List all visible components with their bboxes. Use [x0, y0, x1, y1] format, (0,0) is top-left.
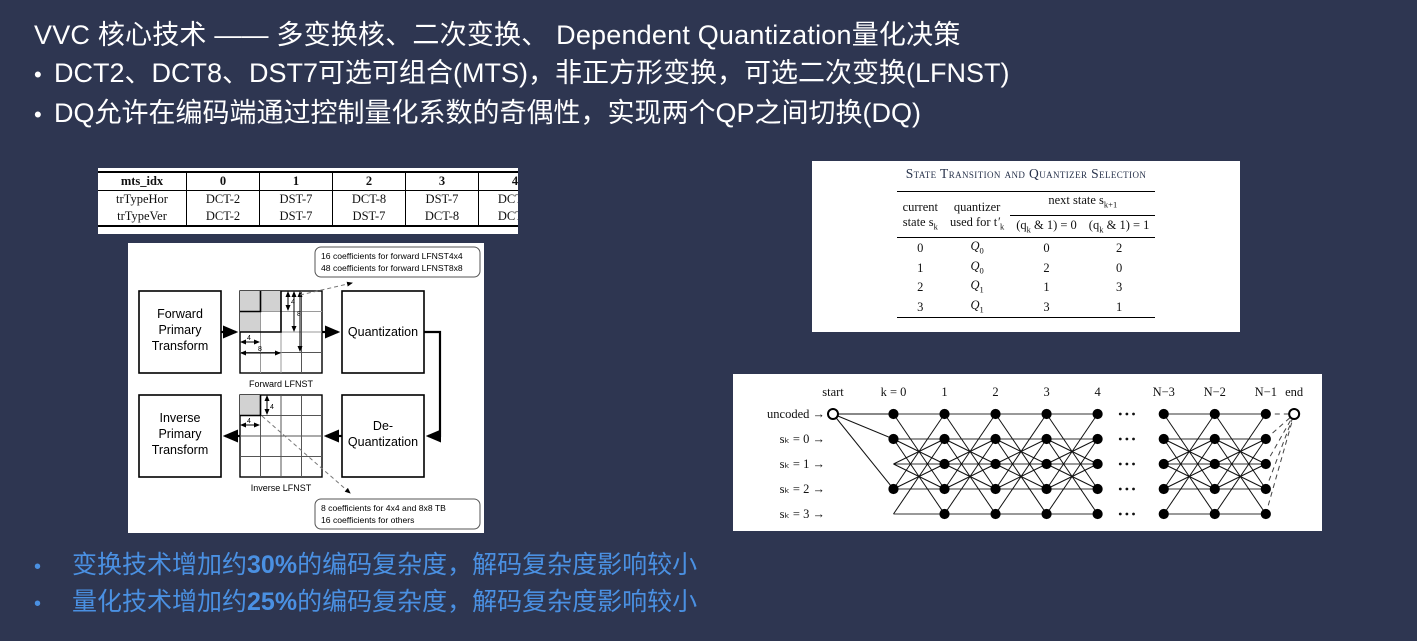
callout-top: 16 coefficients for forward LFNST4x4 48 …	[300, 247, 480, 295]
trellis-node	[1210, 509, 1219, 518]
forward-primary-label-1: Forward	[157, 307, 203, 321]
next-even-cell: 0	[1010, 239, 1083, 259]
state-col-header-line2: state sk	[903, 215, 938, 235]
mts-header-cell: 1	[260, 172, 333, 191]
dim-label-h8: 8	[258, 346, 262, 353]
trellis-node	[1093, 459, 1102, 468]
inverse-primary-label-3: Transform	[152, 443, 209, 457]
trellis-node	[1093, 409, 1102, 418]
trellis-column-label: 2	[992, 385, 998, 399]
mts-cell: DCT-8	[479, 208, 519, 226]
table-rule	[897, 318, 1156, 320]
trellis-column-label: N−3	[1153, 385, 1175, 399]
mts-cell: DST-7	[260, 208, 333, 226]
lfnst-diagram-svg: Forward Primary Transform	[128, 243, 484, 533]
dequantization-label-1: De-	[373, 419, 393, 433]
table-header-row: mts_idx 0 1 2 3 4	[98, 172, 518, 191]
state-transition-table-panel: State Transition and Quantizer Selection…	[812, 161, 1240, 332]
mts-table: mts_idx 0 1 2 3 4 trTypeHor DCT-2 DST-7 …	[98, 171, 518, 227]
quantization-label: Quantization	[348, 325, 418, 339]
trellis-ellipsis-dot	[1132, 463, 1135, 466]
trellis-row-label: sₖ = 0 →	[780, 432, 825, 446]
table-row: trTypeHor DCT-2 DST-7 DCT-8 DST-7 DCT-8	[98, 191, 518, 209]
next-even-cell: 1	[1010, 278, 1083, 298]
trellis-node	[1261, 434, 1270, 443]
bullet-marker: •	[34, 56, 54, 94]
trellis-ellipsis-dot	[1132, 488, 1135, 491]
trellis-node	[1093, 484, 1102, 493]
trellis-column-label: k = 0	[881, 385, 907, 399]
mts-cell: DCT-8	[333, 191, 406, 209]
trellis-ellipsis-dot	[1125, 463, 1128, 466]
next-odd-header: (qk & 1) = 1	[1083, 215, 1156, 238]
trellis-column-label: 1	[941, 385, 947, 399]
trellis-node	[991, 459, 1000, 468]
quantizer-col-header-line1: quantizer	[950, 200, 1004, 215]
mts-cell: DST-7	[333, 208, 406, 226]
trellis-column-label: 4	[1094, 385, 1101, 399]
trellis-node	[991, 484, 1000, 493]
bottom-bullet-block: •变换技术增加约30%的编码复杂度，解码复杂度影响较小•量化技术增加约25%的编…	[34, 548, 1394, 622]
quantizer-col-header: quantizer used for t′k	[944, 193, 1010, 238]
bottom-bullet-text: 变换技术增加约30%的编码复杂度，解码复杂度影响较小	[72, 548, 697, 583]
dim-label-i4b: 4	[270, 404, 274, 411]
table-row: 3 Q1 3 1	[897, 298, 1156, 318]
trellis-diagram-panel: uncoded →sₖ = 0 →sₖ = 1 →sₖ = 2 →sₖ = 3 …	[733, 374, 1322, 531]
mts-cell: DST-7	[406, 191, 479, 209]
state-col-header-line1: current	[903, 200, 938, 215]
next-odd-cell: 3	[1083, 278, 1156, 298]
trellis-node	[1210, 484, 1219, 493]
next-even-cell: 3	[1010, 298, 1083, 318]
mts-cell: DCT-2	[187, 208, 260, 226]
mts-row-label: trTypeVer	[98, 208, 187, 226]
trellis-terminal-node	[828, 409, 838, 419]
quantizer-col-header-line2: used for t′k	[950, 215, 1004, 235]
trellis-node	[1261, 459, 1270, 468]
trellis-node	[1210, 434, 1219, 443]
state-transition-table: current state sk quantizer used for t′k …	[897, 191, 1156, 319]
next-even-header: (qk & 1) = 0	[1010, 215, 1083, 238]
trellis-ellipsis-dot	[1119, 488, 1122, 491]
state-cell: 2	[897, 278, 944, 298]
forward-primary-label-3: Transform	[152, 339, 209, 353]
trellis-ellipsis-dot	[1132, 513, 1135, 516]
quantizer-cell: Q1	[944, 298, 1010, 318]
trellis-ellipsis-dot	[1119, 413, 1122, 416]
trellis-node	[889, 484, 898, 493]
mts-cell: DCT-8	[479, 191, 519, 209]
next-odd-cell: 0	[1083, 259, 1156, 279]
trellis-column-label: end	[1285, 385, 1304, 399]
trellis-node	[1159, 509, 1168, 518]
forward-lfnst-caption: Forward LFNST	[249, 379, 314, 389]
bullet-marker: •	[34, 550, 72, 585]
trellis-node	[1042, 409, 1051, 418]
state-cell: 3	[897, 298, 944, 318]
trellis-node	[1210, 459, 1219, 468]
trellis-node	[991, 509, 1000, 518]
trellis-node	[1042, 434, 1051, 443]
trellis-column-label: N−1	[1255, 385, 1277, 399]
trellis-node	[940, 459, 949, 468]
dequantization-label-2: Quantization	[348, 435, 418, 449]
trellis-ellipsis-dot	[1119, 463, 1122, 466]
slide-root: VVC 核心技术 —— 多变换核、二次变换、 Dependent Quantiz…	[0, 0, 1417, 641]
trellis-node	[1093, 434, 1102, 443]
inverse-lfnst-grid	[240, 395, 322, 477]
callout-top-line-1: 16 coefficients for forward LFNST4x4	[321, 251, 463, 261]
bullet-item-2: • DQ允许在编码端通过控制量化系数的奇偶性，实现两个QP之间切换(DQ)	[34, 94, 1394, 134]
state-col-header: current state sk	[897, 193, 944, 238]
bullet-item-1: • DCT2、DCT8、DST7可选可组合(MTS)，非正方形变换，可选二次变换…	[34, 54, 1394, 94]
table-header-row: current state sk quantizer used for t′k …	[897, 193, 1156, 215]
callout-top-line-2: 48 coefficients for forward LFNST8x8	[321, 263, 463, 273]
inverse-primary-label-1: Inverse	[160, 411, 201, 425]
trellis-node	[1042, 509, 1051, 518]
trellis-column-label: start	[822, 385, 844, 399]
trellis-node	[1159, 484, 1168, 493]
trellis-node	[940, 434, 949, 443]
trellis-diagram-svg: uncoded →sₖ = 0 →sₖ = 1 →sₖ = 2 →sₖ = 3 …	[733, 374, 1322, 531]
trellis-node	[940, 484, 949, 493]
next-state-group-header: next state sk+1	[1010, 193, 1155, 215]
mts-header-cell: 0	[187, 172, 260, 191]
mts-row-label: trTypeHor	[98, 191, 187, 209]
trellis-row-label: sₖ = 2 →	[780, 482, 825, 496]
trellis-node	[991, 434, 1000, 443]
callout-bottom-line-2: 16 coefficients for others	[321, 515, 414, 525]
trellis-column-label: 3	[1043, 385, 1049, 399]
trellis-node	[1159, 434, 1168, 443]
trellis-ellipsis-dot	[1132, 413, 1135, 416]
trellis-node	[1042, 459, 1051, 468]
bottom-bullet-emphasis: 25%	[247, 588, 297, 616]
bullet-marker: •	[34, 96, 54, 134]
title-block: VVC 核心技术 —— 多变换核、二次变换、 Dependent Quantiz…	[34, 16, 1394, 134]
inverse-primary-label-2: Primary	[158, 427, 202, 441]
trellis-node	[1261, 484, 1270, 493]
trellis-ellipsis-dot	[1119, 438, 1122, 441]
bottom-bullet-item-1: •变换技术增加约30%的编码复杂度，解码复杂度影响较小	[34, 548, 1394, 585]
bullet-text: DQ允许在编码端通过控制量化系数的奇偶性，实现两个QP之间切换(DQ)	[54, 94, 921, 132]
trellis-row-label: sₖ = 1 →	[780, 457, 825, 471]
trellis-node	[1159, 409, 1168, 418]
state-cell: 1	[897, 259, 944, 279]
quantizer-cell: Q0	[944, 239, 1010, 259]
next-odd-cell: 1	[1083, 298, 1156, 318]
lfnst-block-diagram-panel: Forward Primary Transform	[128, 243, 484, 533]
forward-primary-label-2: Primary	[158, 323, 202, 337]
mts-header-cell: 4	[479, 172, 519, 191]
trellis-node	[940, 409, 949, 418]
page-title: VVC 核心技术 —— 多变换核、二次变换、 Dependent Quantiz…	[34, 16, 1394, 54]
quantizer-cell: Q0	[944, 259, 1010, 279]
bullet-text: DCT2、DCT8、DST7可选可组合(MTS)，非正方形变换，可选二次变换(L…	[54, 54, 1010, 92]
quantizer-cell: Q1	[944, 278, 1010, 298]
state-cell: 0	[897, 239, 944, 259]
callout-bottom-line-1: 8 coefficients for 4x4 and 8x8 TB	[321, 503, 446, 513]
mts-cell: DCT-8	[406, 208, 479, 226]
table-row: trTypeVer DCT-2 DST-7 DST-7 DCT-8 DCT-8	[98, 208, 518, 226]
bullet-marker: •	[34, 587, 72, 622]
trellis-node	[1210, 409, 1219, 418]
table-row: 0 Q0 0 2	[897, 239, 1156, 259]
mts-header-cell: mts_idx	[98, 172, 187, 191]
mts-cell: DCT-2	[187, 191, 260, 209]
trellis-column-label: N−2	[1204, 385, 1226, 399]
trellis-row-label: uncoded →	[767, 407, 825, 421]
dim-label-i4a: 4	[247, 418, 251, 425]
trellis-node	[1159, 459, 1168, 468]
mts-cell: DST-7	[260, 191, 333, 209]
trellis-terminal-node	[1289, 409, 1299, 419]
dim-label-h4: 4	[247, 335, 251, 342]
next-odd-cell: 2	[1083, 239, 1156, 259]
trellis-node	[1093, 509, 1102, 518]
mts-table-panel: mts_idx 0 1 2 3 4 trTypeHor DCT-2 DST-7 …	[98, 168, 518, 234]
trellis-node	[889, 434, 898, 443]
bottom-bullet-text: 量化技术增加约25%的编码复杂度，解码复杂度影响较小	[72, 585, 697, 620]
trellis-node	[940, 509, 949, 518]
dim-label-v8: 8	[297, 311, 301, 318]
trellis-edges	[833, 414, 1294, 514]
trellis-node	[1261, 509, 1270, 518]
state-table-title: State Transition and Quantizer Selection	[812, 166, 1240, 182]
trellis-node	[991, 409, 1000, 418]
table-row: 1 Q0 2 0	[897, 259, 1156, 279]
trellis-ellipsis-dot	[1125, 438, 1128, 441]
trellis-node	[1261, 409, 1270, 418]
trellis-ellipsis-dot	[1125, 488, 1128, 491]
forward-lfnst-grid	[240, 291, 322, 373]
trellis-ellipsis-dot	[1132, 438, 1135, 441]
trellis-ellipsis-dot	[1125, 413, 1128, 416]
trellis-node	[1042, 484, 1051, 493]
bottom-bullet-item-2: •量化技术增加约25%的编码复杂度，解码复杂度影响较小	[34, 585, 1394, 622]
trellis-node	[889, 409, 898, 418]
mts-header-cell: 3	[406, 172, 479, 191]
trellis-ellipsis-dot	[1125, 513, 1128, 516]
inverse-lfnst-caption: Inverse LFNST	[251, 483, 312, 493]
trellis-row-label: sₖ = 3 →	[780, 507, 825, 521]
mts-header-cell: 2	[333, 172, 406, 191]
table-row: 2 Q1 1 3	[897, 278, 1156, 298]
dim-label-v4: 4	[291, 299, 295, 306]
bottom-bullet-emphasis: 30%	[247, 551, 297, 579]
next-even-cell: 2	[1010, 259, 1083, 279]
trellis-ellipsis-dot	[1119, 513, 1122, 516]
